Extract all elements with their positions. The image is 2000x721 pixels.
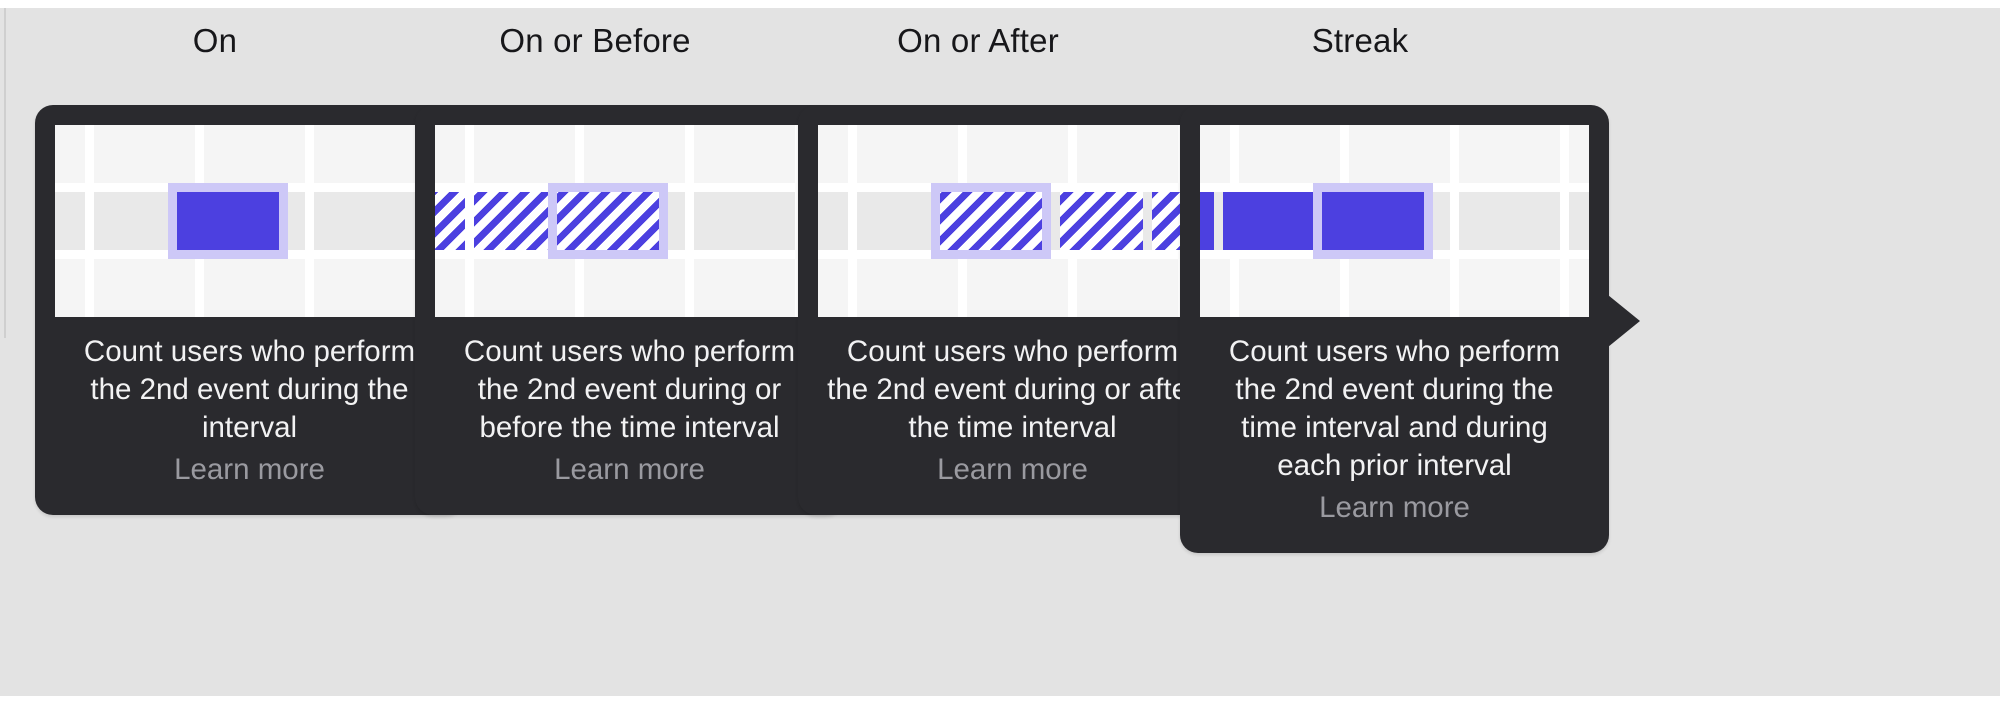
card-description-streak: Count users who perform the 2nd event du… xyxy=(1206,333,1583,485)
grid-cell xyxy=(204,125,305,183)
grid-cell xyxy=(1239,125,1340,183)
grid-cell xyxy=(694,125,795,183)
grid-cell xyxy=(1200,125,1230,183)
grid-cell xyxy=(474,192,575,250)
learn-more-link-on-or-after[interactable]: Learn more xyxy=(818,451,1207,489)
card-on-or-after[interactable]: Count users who perform the 2nd event du… xyxy=(798,105,1227,515)
grid-cell xyxy=(314,192,415,250)
card-description-on-or-after: Count users who perform the 2nd event du… xyxy=(824,333,1201,447)
grid-cell xyxy=(94,259,195,317)
learn-more-link-on[interactable]: Learn more xyxy=(55,451,444,489)
grid-cell xyxy=(435,259,465,317)
grid-cell xyxy=(1569,125,1589,183)
grid-cell xyxy=(584,192,685,250)
grid-cell xyxy=(1239,192,1340,250)
grid-cell xyxy=(818,125,848,183)
grid-cell xyxy=(314,259,415,317)
grid-cell xyxy=(1349,259,1450,317)
card-pointer-streak xyxy=(1608,295,1640,347)
card-title-streak: Streak xyxy=(1120,22,1600,60)
grid-cell xyxy=(435,192,465,250)
learn-more-link-on-or-before[interactable]: Learn more xyxy=(435,451,824,489)
illustration-grid xyxy=(435,125,824,317)
grid-cell xyxy=(694,192,795,250)
grid-cell xyxy=(857,125,958,183)
grid-cell xyxy=(1569,259,1589,317)
grid-cell xyxy=(818,259,848,317)
illustration-grid xyxy=(55,125,444,317)
illustration-streak xyxy=(1200,125,1589,317)
grid-cell xyxy=(818,192,848,250)
grid-cell xyxy=(204,192,305,250)
grid-cell xyxy=(55,125,85,183)
grid-cell xyxy=(1459,259,1560,317)
illustration-grid xyxy=(1200,125,1589,317)
illustration-on-or-before xyxy=(435,125,824,317)
grid-cell xyxy=(584,125,685,183)
grid-cell xyxy=(1200,192,1230,250)
grid-cell xyxy=(1239,259,1340,317)
grid-cell xyxy=(1077,192,1178,250)
grid-cell xyxy=(1459,125,1560,183)
grid-cell xyxy=(857,259,958,317)
grid-cell xyxy=(204,259,305,317)
grid-cell xyxy=(55,192,85,250)
card-on[interactable]: Count users who perform the 2nd event du… xyxy=(35,105,464,515)
grid-cell xyxy=(1349,192,1450,250)
grid-cell xyxy=(435,125,465,183)
grid-cell xyxy=(967,192,1068,250)
grid-cell xyxy=(314,125,415,183)
grid-cell xyxy=(94,125,195,183)
grid-cell xyxy=(967,125,1068,183)
card-on-or-before[interactable]: Count users who perform the 2nd event du… xyxy=(415,105,844,515)
grid-cell xyxy=(474,125,575,183)
grid-cell xyxy=(1349,125,1450,183)
comparison-panel: On xyxy=(0,0,2000,721)
grid-cell xyxy=(694,259,795,317)
grid-cell xyxy=(474,259,575,317)
grid-cell xyxy=(55,259,85,317)
card-description-on: Count users who perform the 2nd event du… xyxy=(61,333,438,447)
card-row: On xyxy=(0,0,2000,721)
grid-cell xyxy=(857,192,958,250)
grid-cell xyxy=(584,259,685,317)
illustration-on xyxy=(55,125,444,317)
grid-cell xyxy=(94,192,195,250)
learn-more-link-streak[interactable]: Learn more xyxy=(1200,489,1589,527)
grid-cell xyxy=(1459,192,1560,250)
grid-cell xyxy=(967,259,1068,317)
grid-cell xyxy=(1569,192,1589,250)
card-streak[interactable]: Count users who perform the 2nd event du… xyxy=(1180,105,1609,553)
card-wrap-streak: Count users who perform the 2nd event du… xyxy=(1180,105,1660,553)
illustration-on-or-after xyxy=(818,125,1207,317)
grid-cell xyxy=(1077,125,1178,183)
grid-cell xyxy=(1077,259,1178,317)
card-description-on-or-before: Count users who perform the 2nd event du… xyxy=(441,333,818,447)
grid-cell xyxy=(1200,259,1230,317)
illustration-grid xyxy=(818,125,1207,317)
